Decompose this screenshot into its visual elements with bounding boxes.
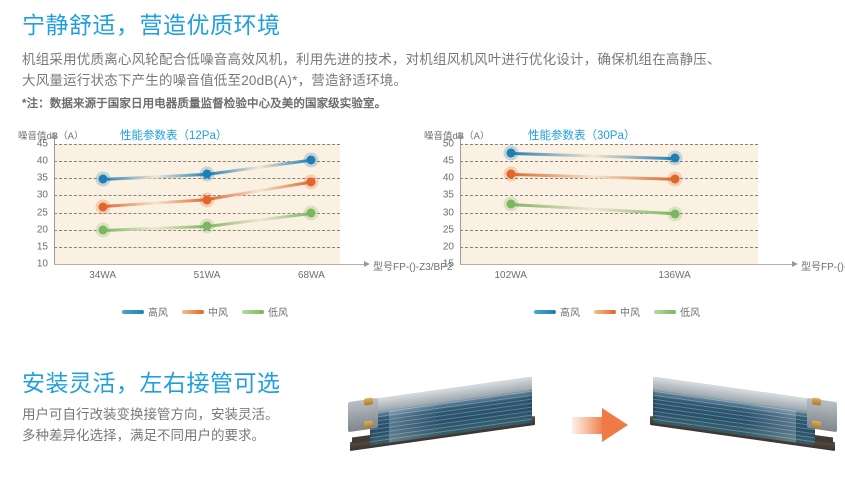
- gridline: [54, 195, 340, 196]
- chart-30pa-title: 性能参数表（30Pa）: [528, 127, 635, 143]
- data-point: [670, 154, 679, 163]
- legend-label-high: 高风: [560, 304, 580, 319]
- intro-section: 宁静舒适，营造优质环境 机组采用优质离心风轮配合低噪音高效风机，利用先进的技术，…: [22, 10, 832, 112]
- gridline: [460, 144, 758, 145]
- intro-paragraph-line-1: 机组采用优质离心风轮配合低噪音高效风机，利用先进的技术，对机组风机风叶进行优化设…: [22, 49, 832, 70]
- install-paragraph-line-1: 用户可自行改装变换接管方向，安装灵活。: [22, 404, 342, 425]
- legend-swatch-low: [654, 310, 676, 314]
- data-point: [670, 174, 679, 183]
- intro-paragraph: 机组采用优质离心风轮配合低噪音高效风机，利用先进的技术，对机组风机风叶进行优化设…: [22, 49, 832, 91]
- install-title: 安装灵活，左右接管可选: [22, 368, 342, 398]
- chart-30pa-plot: 1520253035404550102WA136WA型号FP-()-Z3-G30…: [424, 144, 804, 284]
- product-illustration: [340, 372, 845, 480]
- legend-swatch-high: [122, 310, 144, 314]
- data-point: [506, 170, 515, 179]
- y-axis-tick-label: 40: [432, 173, 454, 184]
- legend-item-low: 低风: [654, 304, 700, 319]
- y-axis-tick-label: 45: [432, 156, 454, 167]
- y-axis-tick-label: 20: [432, 241, 454, 252]
- arrow-right-icon: [572, 408, 628, 442]
- legend-item-low: 低风: [242, 304, 288, 319]
- chart-12pa: 噪音值dB（A） 性能参数表（12Pa） 101520253035404534W…: [18, 128, 428, 328]
- y-axis-tick-label: 30: [26, 190, 48, 201]
- x-axis-tick-label: 34WA: [89, 270, 116, 281]
- chart-12pa-title: 性能参数表（12Pa）: [120, 127, 227, 143]
- data-point: [203, 222, 212, 231]
- legend-label-medium: 中风: [208, 304, 228, 319]
- y-axis-tick-label: 25: [26, 207, 48, 218]
- y-axis-tick-label: 35: [432, 190, 454, 201]
- gridline: [460, 230, 758, 231]
- y-axis-tick-label: 45: [26, 139, 48, 150]
- legend-item-high: 高风: [534, 304, 580, 319]
- gridline: [460, 213, 758, 214]
- arrow-head: [602, 408, 628, 442]
- y-axis-line: [54, 138, 55, 264]
- data-point: [203, 195, 212, 204]
- x-axis-line: [460, 264, 792, 265]
- unit-pipe-fitting-upper: [812, 397, 821, 405]
- chart-30pa: 噪音值dB（A） 性能参数表（30Pa） 1520253035404550102…: [424, 128, 844, 328]
- x-axis-line: [54, 264, 364, 265]
- intro-paragraph-line-2: 大风量运行状态下产生的噪音值低至20dB(A)*，营造舒适环境。: [22, 70, 832, 91]
- data-point: [506, 149, 515, 158]
- y-axis-tick-label: 15: [432, 259, 454, 270]
- chart-12pa-plot: 101520253035404534WA51WA68WA型号FP-()-Z3/B…: [18, 144, 378, 284]
- x-axis-tick-label: 136WA: [658, 270, 690, 281]
- unit-end-cap: [348, 398, 378, 432]
- gridline: [460, 161, 758, 162]
- y-axis-tick-label: 50: [432, 139, 454, 150]
- charts-row: 噪音值dB（A） 性能参数表（12Pa） 101520253035404534W…: [0, 128, 845, 328]
- legend-label-medium: 中风: [620, 304, 640, 319]
- legend-item-high: 高风: [122, 304, 168, 319]
- page-title: 宁静舒适，营造优质环境: [22, 10, 832, 40]
- data-point: [307, 178, 316, 187]
- x-axis-arrow-icon: [792, 261, 798, 267]
- y-axis-arrow-icon: [457, 132, 463, 138]
- y-axis-tick-label: 40: [26, 156, 48, 167]
- data-point: [670, 209, 679, 218]
- x-axis-tick-label: 68WA: [298, 270, 325, 281]
- gridline: [460, 195, 758, 196]
- x-axis-tick-label: 51WA: [194, 270, 221, 281]
- legend-label-low: 低风: [680, 304, 700, 319]
- unit-pipe-fitting-lower: [812, 420, 821, 428]
- gridline: [54, 144, 340, 145]
- data-point: [203, 170, 212, 179]
- product-unit-left-piping: [348, 382, 553, 460]
- data-point: [307, 155, 316, 164]
- y-axis-tick-label: 35: [26, 173, 48, 184]
- x-axis-tick-label: 102WA: [494, 270, 526, 281]
- chart-30pa-legend: 高风 中风 低风: [534, 304, 700, 319]
- y-axis-line: [460, 138, 461, 264]
- footnote: *注：数据来源于国家日用电器质量监督检验中心及美的国家级实验室。: [22, 96, 832, 112]
- y-axis-tick-label: 10: [26, 259, 48, 270]
- legend-swatch-medium: [182, 310, 204, 314]
- gridline: [460, 247, 758, 248]
- data-point: [98, 226, 107, 235]
- legend-label-high: 高风: [148, 304, 168, 319]
- arrow-shaft: [572, 417, 604, 434]
- y-axis-tick-label: 20: [26, 224, 48, 235]
- y-axis-tick-label: 15: [26, 241, 48, 252]
- y-axis-arrow-icon: [51, 132, 57, 138]
- gridline: [54, 247, 340, 248]
- y-axis-tick-label: 30: [432, 207, 454, 218]
- unit-pipe-fitting-lower: [364, 420, 373, 428]
- product-unit-right-piping: [632, 382, 837, 460]
- data-point: [506, 200, 515, 209]
- data-point: [98, 202, 107, 211]
- legend-item-medium: 中风: [182, 304, 228, 319]
- x-axis-title: 型号FP-()-Z3-G30/BP2: [801, 258, 845, 273]
- install-paragraph: 用户可自行改装变换接管方向，安装灵活。 多种差异化选择，满足不同用户的要求。: [22, 404, 342, 446]
- chart-12pa-legend: 高风 中风 低风: [122, 304, 288, 319]
- x-axis-arrow-icon: [364, 261, 370, 267]
- data-point: [98, 175, 107, 184]
- legend-swatch-medium: [594, 310, 616, 314]
- legend-label-low: 低风: [268, 304, 288, 319]
- y-axis-tick-label: 25: [432, 224, 454, 235]
- install-section: 安装灵活，左右接管可选 用户可自行改装变换接管方向，安装灵活。 多种差异化选择，…: [22, 368, 342, 446]
- data-point: [307, 209, 316, 218]
- legend-item-medium: 中风: [594, 304, 640, 319]
- unit-pipe-fitting-upper: [364, 397, 373, 405]
- legend-swatch-low: [242, 310, 264, 314]
- legend-swatch-high: [534, 310, 556, 314]
- install-paragraph-line-2: 多种差异化选择，满足不同用户的要求。: [22, 425, 342, 446]
